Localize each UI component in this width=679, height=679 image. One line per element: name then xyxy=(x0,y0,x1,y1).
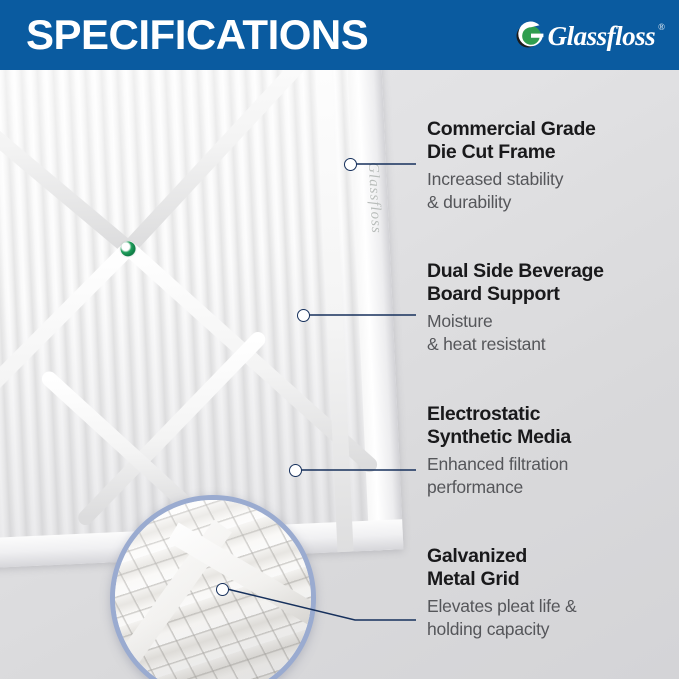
spec-subtitle: Increased stability & durability xyxy=(427,168,679,214)
spec-sub-line1: Elevates pleat life & xyxy=(427,596,577,616)
header-bar: SPECIFICATIONS Glassfloss ® xyxy=(0,0,679,70)
spec-title-line2: Synthetic Media xyxy=(427,426,571,448)
specifications-infographic: SPECIFICATIONS Glassfloss ® xyxy=(0,0,679,679)
spec-title-line1: Electrostatic xyxy=(427,403,540,425)
spec-sub-line1: Moisture xyxy=(427,311,493,331)
callout-dot-4 xyxy=(216,583,229,596)
spec-subtitle: Enhanced filtration performance xyxy=(427,453,679,499)
spec-title: Electrostatic Synthetic Media xyxy=(427,403,679,449)
spec-item-galvanized-metal-grid: Galvanized Metal Grid Elevates pleat lif… xyxy=(427,545,679,641)
spec-title: Galvanized Metal Grid xyxy=(427,545,679,591)
spec-title-line1: Galvanized xyxy=(427,545,527,567)
page-title: SPECIFICATIONS xyxy=(26,12,368,58)
spec-subtitle: Elevates pleat life & holding capacity xyxy=(427,595,679,641)
spec-sub-line2: & heat resistant xyxy=(427,334,545,354)
inset-shading-overlay xyxy=(115,500,311,679)
logo-trademark: ® xyxy=(658,22,665,32)
spec-item-electrostatic-synthetic-media: Electrostatic Synthetic Media Enhanced f… xyxy=(427,403,679,499)
spec-item-commercial-grade-die-cut-frame: Commercial Grade Die Cut Frame Increased… xyxy=(427,118,679,214)
spec-title: Dual Side Beverage Board Support xyxy=(427,260,679,306)
callout-dot-1 xyxy=(344,158,357,171)
spec-title-line2: Metal Grid xyxy=(427,568,519,590)
spec-title: Commercial Grade Die Cut Frame xyxy=(427,118,679,164)
spec-title-line1: Commercial Grade xyxy=(427,118,596,140)
spec-item-dual-side-beverage-board-support: Dual Side Beverage Board Support Moistur… xyxy=(427,260,679,356)
spec-title-line1: Dual Side Beverage xyxy=(427,260,604,282)
glassfloss-g-mark-icon xyxy=(515,21,545,51)
brand-logo: Glassfloss ® xyxy=(515,20,665,52)
frame-brand-text: Glassfloss xyxy=(364,162,384,234)
spec-title-line2: Board Support xyxy=(427,283,560,305)
spec-sub-line1: Enhanced filtration xyxy=(427,454,568,474)
callout-dot-3 xyxy=(289,464,302,477)
spec-sub-line2: & durability xyxy=(427,192,511,212)
magnified-media-inset xyxy=(110,495,316,679)
spec-sub-line2: holding capacity xyxy=(427,619,549,639)
logo-wordmark: Glassfloss xyxy=(548,22,656,50)
specs-list: Commercial Grade Die Cut Frame Increased… xyxy=(427,70,679,679)
product-photo: Glassfloss xyxy=(0,70,420,679)
callout-dot-2 xyxy=(297,309,310,322)
spec-title-line2: Die Cut Frame xyxy=(427,141,555,163)
spec-sub-line1: Increased stability xyxy=(427,169,563,189)
spec-subtitle: Moisture & heat resistant xyxy=(427,310,679,356)
spec-sub-line2: performance xyxy=(427,477,523,497)
